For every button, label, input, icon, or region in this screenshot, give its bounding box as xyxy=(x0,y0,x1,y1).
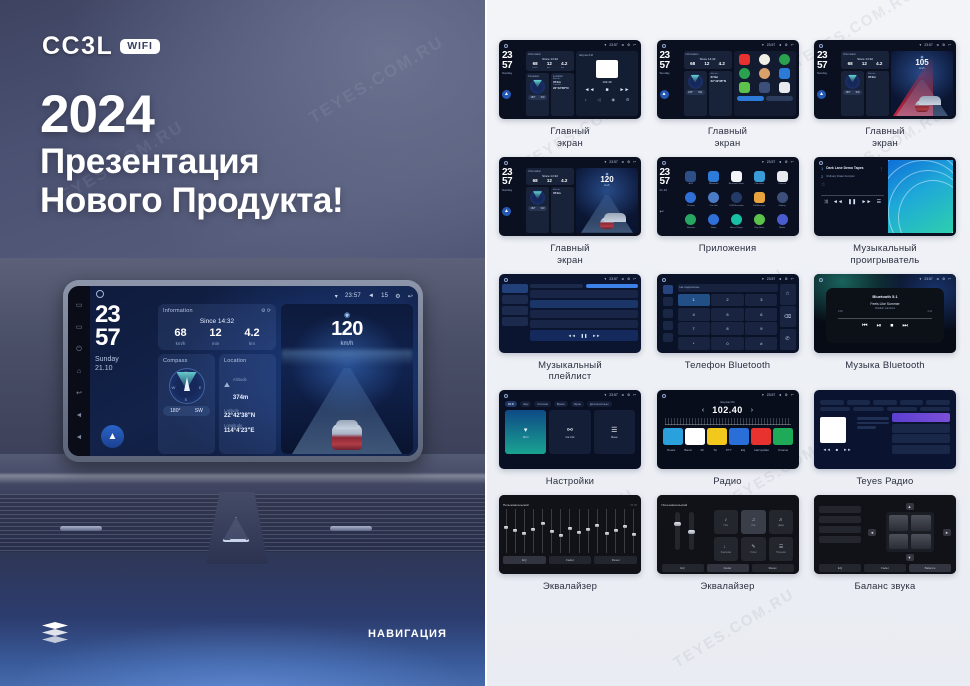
previous-icon: ⏮ xyxy=(862,323,867,330)
progress-bar[interactable] xyxy=(838,318,932,319)
dial-key[interactable]: 5 xyxy=(711,308,743,321)
footer-reset[interactable]: Reset xyxy=(594,556,637,564)
equalizer-bands[interactable] xyxy=(503,509,637,553)
compass-card[interactable]: 180°SW xyxy=(841,71,864,117)
dialpad-keys[interactable]: 1 2 3 4 5 6 7 8 9 * xyxy=(678,294,778,350)
footer-eq[interactable]: EQ xyxy=(819,564,861,572)
app-label: Chrome xyxy=(687,205,695,207)
status-bar: ▾23:57◄⚙↩ xyxy=(762,160,793,164)
sidebar-item-search[interactable] xyxy=(663,309,673,318)
screenshot-music-player[interactable]: ▾23:57◄⚙↩ 1Dark Lane Demo Tapes⋮ 2Ordina… xyxy=(814,157,956,236)
toolbar-chip[interactable] xyxy=(873,400,897,405)
fader-sliders[interactable] xyxy=(662,510,708,561)
gallery-item[interactable]: ▾23:57◄⚙↩ Bluetooth 5.1 Feels Like Summe… xyxy=(814,274,956,384)
balance-down-icon[interactable]: ▼ xyxy=(906,554,914,561)
list-item[interactable] xyxy=(530,290,638,298)
dialpad-main: Не подключен 1 2 3 4 5 6 7 8 xyxy=(678,277,796,350)
home-indicator-icon xyxy=(504,161,508,165)
navigation-button[interactable]: ▲ xyxy=(101,425,124,448)
previous-icon: ◄◄ xyxy=(823,447,831,452)
tab-advanced[interactable]: Дополнительно xyxy=(587,401,612,407)
key-volume-up-icon[interactable]: ◄ xyxy=(76,434,83,441)
stat-value: 12 xyxy=(862,62,867,67)
tab-time[interactable]: Время xyxy=(554,401,568,407)
preset-pop[interactable]: ♪Поп xyxy=(714,510,739,534)
gallery-item[interactable]: ▾23:57◄⚙↩ Не подключен xyxy=(657,274,799,384)
screenshot-equalizer-fader[interactable]: Пользовательский ♪Поп ♫Рок ♬Джаз ♩Класси… xyxy=(657,495,799,574)
gallery-item[interactable]: Пользовательский ♪Поп ♫Рок ♬Джаз ♩Класси… xyxy=(657,495,799,593)
setting-card-wifi[interactable]: ▾ Wi-Fi xyxy=(505,410,546,454)
information-card[interactable]: Information ⚙ ⟳ Since 14:32 68 km/h xyxy=(158,304,276,350)
preset-rear[interactable] xyxy=(819,526,861,533)
link-icon: ⚯ xyxy=(567,426,573,434)
wifi-icon: ▾ xyxy=(335,293,338,300)
key-mic-icon[interactable]: ▭ xyxy=(76,324,83,331)
backspace-icon[interactable]: ⌫ xyxy=(780,306,796,327)
gallery-item[interactable]: ▾23:57◄⚙↩ 23 57 Sunday ▲ Information xyxy=(814,40,956,150)
center-widgets: Information Since 14:32 68km/h 12min 4.2… xyxy=(526,51,574,116)
compass-direction: SW xyxy=(698,91,702,94)
information-settings-icon[interactable]: ⚙ ⟳ xyxy=(261,308,271,314)
phone-sidebar[interactable] xyxy=(660,277,676,350)
screenshot-bluetooth-phone[interactable]: ▾23:57◄⚙↩ Не подключен xyxy=(657,274,799,353)
location-card[interactable]: Altitude 374m 22°42'38"N xyxy=(709,71,732,117)
key-back-icon[interactable]: ↩ xyxy=(76,390,82,397)
navigation-button[interactable]: ▲ xyxy=(817,90,826,99)
equalizer-footer[interactable]: EQ Fader Reset xyxy=(662,564,794,572)
vent-slider-left[interactable] xyxy=(60,526,102,531)
clock-minute: 57 xyxy=(660,177,682,187)
information-card[interactable]: Information Since 14:32 68km/h 12min 4.2… xyxy=(526,51,574,71)
longitude-value: 114°4'23"E xyxy=(224,428,271,434)
slider-treble[interactable] xyxy=(689,512,694,550)
tab-sound[interactable]: Звук xyxy=(520,401,531,407)
toolbar-search[interactable]: Поиск xyxy=(667,448,675,452)
center-widgets: Information Since 14:32 68 12 4.2 xyxy=(684,51,732,116)
radio-frequency: 102.40 xyxy=(712,405,743,415)
navigation-button[interactable]: ▲ xyxy=(502,207,511,216)
dial-key[interactable]: 4 xyxy=(678,308,710,321)
back-icon: ↩ xyxy=(791,43,794,47)
gear-icon[interactable]: ⚙ xyxy=(395,293,401,300)
back-icon[interactable]: ↩ xyxy=(408,293,413,300)
status-time: 23:57 xyxy=(609,160,618,164)
volume-icon: ◄ xyxy=(778,393,781,397)
frequency-scale[interactable] xyxy=(665,418,791,425)
app-icon-play xyxy=(739,82,750,93)
preset-jazz[interactable]: ♬Джаз xyxy=(769,510,794,534)
dial-key[interactable]: 9 xyxy=(745,322,777,335)
teyes-body: ◄◄■►► xyxy=(820,413,950,459)
compass-needle xyxy=(184,377,190,391)
key-power-icon[interactable]: ⏻ xyxy=(76,346,82,353)
settings-tabs[interactable]: Wi-Fi Звук Система Время Экран Дополните… xyxy=(505,401,635,407)
teyes-toolbar[interactable] xyxy=(820,400,950,405)
equalizer-header: Пользовательский ▭ ▭ xyxy=(503,503,637,507)
back-icon: ↩ xyxy=(948,43,951,47)
previous-icon: ◄◄ xyxy=(568,333,576,338)
prev-station-icon[interactable]: ‹ xyxy=(702,407,704,414)
dial-key[interactable]: 3 xyxy=(745,294,777,307)
location-card[interactable]: Altitude 374m xyxy=(551,187,574,233)
app-label: Car Link xyxy=(710,205,718,207)
key-volume-down-icon[interactable]: ◄ xyxy=(76,412,83,419)
compass-direction: SW xyxy=(541,207,545,210)
screenshot-teyes-radio[interactable]: ◄◄■►► xyxy=(814,390,956,469)
drive-widget[interactable]: ◉ 105 km/h xyxy=(891,51,953,116)
gallery-item[interactable]: ▾23:57◄⚙↩ Шоулан FM ‹ 102.40 › xyxy=(657,390,799,488)
preset-stations[interactable] xyxy=(663,428,793,445)
drive-widget[interactable]: ◉ 120 km/h xyxy=(576,168,638,233)
volume-icon: ◄ xyxy=(778,277,781,281)
dial-key[interactable]: 6 xyxy=(745,308,777,321)
preset-rock[interactable]: ♫Рок xyxy=(741,510,766,534)
clock-minute: 57 xyxy=(817,61,839,71)
playback-controls[interactable]: ◄◄■►► xyxy=(820,447,854,452)
screenshot-bluetooth-music[interactable]: ▾23:57◄⚙↩ Bluetooth 5.1 Feels Like Summe… xyxy=(814,274,956,353)
preset-name: Пользовательский xyxy=(503,503,529,507)
balance-right-icon[interactable]: ► xyxy=(943,529,951,536)
gallery-item[interactable]: ▾23:57◄⚙↩ 23 57 Sunday ▲ Information xyxy=(657,40,799,150)
eq-band xyxy=(550,509,554,553)
list-item[interactable] xyxy=(892,413,950,422)
phone-number-field[interactable]: Не подключен xyxy=(678,284,778,292)
more-icon[interactable]: ⋮ xyxy=(880,166,884,171)
logo-wifi-badge: WIFI xyxy=(120,39,159,55)
stat-value: 68 xyxy=(533,62,538,67)
list-item[interactable] xyxy=(530,300,638,308)
apps-layout: 23 57 21.10 ↩ AUX Bluetooth Bluetooth Mu… xyxy=(660,160,796,233)
station-preset[interactable] xyxy=(729,428,749,445)
information-card[interactable]: Information Since 14:32 68 12 4.2 xyxy=(841,51,889,69)
album-art xyxy=(596,60,618,78)
screenshot-radio[interactable]: ▾23:57◄⚙↩ Шоулан FM ‹ 102.40 › xyxy=(657,390,799,469)
footer-fader[interactable]: Fader xyxy=(864,564,906,572)
home-indicator-icon[interactable] xyxy=(96,290,104,298)
status-bar: ▾ 23:57 ◄ 15 ⚙ ↩ xyxy=(95,290,413,302)
footer-reset[interactable]: Reset xyxy=(752,564,794,572)
station-preset[interactable] xyxy=(685,428,705,445)
eq-band xyxy=(605,509,609,553)
app-icon-chrome xyxy=(685,192,696,203)
slider-bass[interactable] xyxy=(675,512,680,550)
back-icon: ↩ xyxy=(791,393,794,397)
playback-controls[interactable]: ⏮⏯⏹⏭ xyxy=(832,323,938,330)
gallery-item[interactable]: ▲ ▼ ◄ ► xyxy=(814,495,956,593)
toolbar-chip[interactable] xyxy=(926,400,950,405)
speed-unit: km/h xyxy=(576,184,638,187)
gallery-item[interactable]: ▾23:57◄⚙↩ 23 57 21.10 ↩ AUX Bluetooth Bl… xyxy=(657,157,799,267)
navigation-button[interactable]: ▲ xyxy=(502,90,511,99)
fader-layout: Пользовательский ♪Поп ♫Рок ♬Джаз ♩Класси… xyxy=(657,495,799,574)
tab-favorites[interactable] xyxy=(586,284,639,288)
preset-selector[interactable]: ▭ ▭ xyxy=(630,503,637,507)
compass-card[interactable]: Compass 180°SW xyxy=(526,73,549,117)
dialpad-layout: Не подключен 1 2 3 4 5 6 7 8 xyxy=(660,277,796,350)
clock-widget: 23 57 Sunday 21.10 ▲ xyxy=(95,304,153,454)
home-widgets: 23 57 Sunday 21.10 ▲ Information xyxy=(95,304,413,454)
next-icon: ►► xyxy=(592,333,600,338)
screenshot-equalizer[interactable]: Пользовательский ▭ ▭ xyxy=(499,495,641,574)
preset-name: Пользовательский xyxy=(662,503,794,507)
longitude-row: Longitude 114°4'23"E xyxy=(224,423,271,434)
list-item[interactable] xyxy=(530,320,638,328)
dialpad-actions[interactable]: ☆ ⌫ ✆ xyxy=(780,284,796,350)
tab-all[interactable] xyxy=(530,284,583,288)
gallery-item[interactable]: ▾23:57◄⚙↩ 23 57 Sunday ▲ Information xyxy=(499,40,641,150)
key-home-icon[interactable]: ⌂ xyxy=(77,368,81,375)
status-bar: ▾23:57◄⚙↩ xyxy=(920,43,951,47)
gallery-item[interactable]: ▾23:57◄⚙↩ Wi-Fi Звук Система Время Экран… xyxy=(499,390,641,488)
media-freq: 102.40 xyxy=(579,80,635,84)
media-widget[interactable]: Шоулан FM 102.40 ◄◄■►► ♪◁◉⚙ xyxy=(576,51,638,116)
compass-card[interactable]: 180°SW xyxy=(684,71,707,117)
screenshot-playlist[interactable]: ▾23:57◄⚙↩ xyxy=(499,274,641,353)
playback-controls[interactable]: ⤨◄◄❚❚►►☰ xyxy=(821,199,884,205)
dial-key[interactable]: * xyxy=(678,337,710,350)
home-layout: 23 57 Sunday ▲ Information Since 14:32 6… xyxy=(502,160,638,233)
gallery-item[interactable]: ▾23:57◄⚙↩ 23 57 Sunday ▲ Information xyxy=(499,157,641,267)
key-menu-icon[interactable]: ▭ xyxy=(76,302,83,309)
mini-player[interactable]: ◄◄❚❚►► xyxy=(530,330,638,341)
app-item: Camera xyxy=(773,171,792,190)
gallery-item[interactable]: ▾23:57◄⚙↩ xyxy=(499,274,641,384)
list-item[interactable] xyxy=(892,445,950,454)
app-icon-gallery xyxy=(777,192,788,203)
location-card[interactable]: Altitude 374m xyxy=(866,71,889,117)
gallery-item[interactable]: ◄◄■►► xyxy=(814,390,956,488)
toolbar-af[interactable]: AF xyxy=(700,448,704,452)
footer-eq[interactable]: EQ xyxy=(662,564,704,572)
screenshot-home-speed[interactable]: ▾23:57◄⚙↩ 23 57 Sunday ▲ Information xyxy=(499,157,641,236)
latitude-value: 22°42'38"N xyxy=(711,79,730,83)
location-card[interactable]: Location ⛰ Altitude 374m xyxy=(219,354,276,454)
drive-widget[interactable]: ◉ 120 km/h xyxy=(281,304,413,454)
preset-driver[interactable] xyxy=(819,506,861,513)
location-card[interactable]: Location Altitude 374m Latitude 22°42'38… xyxy=(551,73,574,117)
toolbar-list[interactable]: Список xyxy=(778,448,788,452)
balance-pad[interactable]: ▲ ▼ ◄ ► xyxy=(868,503,951,561)
wifi-icon: ▾ xyxy=(920,277,922,281)
toolbar-band[interactable]: Band xyxy=(684,448,691,452)
setting-card-carlink[interactable]: ⚯ Car Link xyxy=(549,410,590,454)
media-controls[interactable]: ◄◄■►► xyxy=(579,87,635,93)
app-label: Calculator xyxy=(754,183,764,185)
equalizer-footer[interactable]: EQ Fader Balance xyxy=(819,564,951,572)
screenshot-settings[interactable]: ▾23:57◄⚙↩ Wi-Fi Звук Система Время Экран… xyxy=(499,390,641,469)
radio-toolbar[interactable]: Поиск Band AF TA PTY EQ Настройки Список xyxy=(663,448,793,452)
stat-value: 12 xyxy=(547,62,552,67)
next-station-icon[interactable]: › xyxy=(751,407,753,414)
visualizer xyxy=(888,160,953,233)
station-preset[interactable] xyxy=(773,428,793,445)
sidebar-item-artists[interactable] xyxy=(502,306,528,315)
time-total: 4:41 xyxy=(927,310,932,313)
filter-chip[interactable] xyxy=(920,407,950,412)
eq-band xyxy=(623,509,627,553)
stat-value: 68 xyxy=(848,62,853,67)
toolbar-chip[interactable] xyxy=(820,400,844,405)
app-shortcuts-widget[interactable] xyxy=(734,51,796,116)
list-item[interactable] xyxy=(892,434,950,443)
gallery-item-label: Главныйэкран xyxy=(550,126,589,150)
balance-layout: ▲ ▼ ◄ ► xyxy=(814,495,956,574)
back-icon: ↩ xyxy=(633,277,636,281)
footer-eq[interactable]: EQ xyxy=(503,556,546,564)
toolbar-ta[interactable]: TA xyxy=(713,448,717,452)
information-card[interactable]: Information Since 14:32 68 12 4.2 xyxy=(526,168,574,186)
filter-chip[interactable] xyxy=(820,407,850,412)
preset-grid[interactable]: ♪Поп ♫Рок ♬Джаз ♩Классика ✎Голос ☰Пользо… xyxy=(714,510,794,561)
track-info: 1Dark Lane Demo Tapes⋮ 2Ordinary Drake S… xyxy=(817,160,888,233)
back-icon: ↩ xyxy=(633,393,636,397)
list-item[interactable] xyxy=(892,424,950,433)
toolbar-chip[interactable] xyxy=(900,400,924,405)
app-icon-radio xyxy=(777,214,788,225)
track-list[interactable]: ◄◄❚❚►► xyxy=(530,277,638,350)
app-item: Gallery xyxy=(773,192,792,211)
dial-key[interactable]: 2 xyxy=(711,294,743,307)
station-preset[interactable] xyxy=(663,428,683,445)
balance-left-icon[interactable]: ◄ xyxy=(868,529,876,536)
sidebar-item-history[interactable] xyxy=(663,321,673,330)
navigation-button[interactable]: ▲ xyxy=(660,90,669,99)
preset-all[interactable] xyxy=(819,536,861,543)
toolbar-eq[interactable]: EQ xyxy=(741,448,745,452)
sidebar-item-contacts[interactable] xyxy=(663,297,673,306)
compass-card[interactable]: 180°SW xyxy=(526,187,549,233)
setting-card-menu[interactable]: ☰ Меню xyxy=(594,410,635,454)
sidebar-item-folders[interactable] xyxy=(502,317,528,326)
screenshot-apps[interactable]: ▾23:57◄⚙↩ 23 57 21.10 ↩ AUX Bluetooth Bl… xyxy=(657,157,799,236)
dial-key[interactable]: 7 xyxy=(678,322,710,335)
favorite-icon[interactable]: ☆ xyxy=(821,182,884,188)
footer-fader[interactable]: Fader xyxy=(707,564,749,572)
gallery-row: ▾23:57◄⚙↩ Wi-Fi Звук Система Время Экран… xyxy=(499,390,956,488)
preset-custom[interactable]: ☰Пользов. xyxy=(769,537,794,561)
sidebar-item-dialpad[interactable] xyxy=(663,285,673,294)
preset-classic[interactable]: ♩Классика xyxy=(714,537,739,561)
hero-panel: TEYES.COM.RU TEYES.COM.RU TEYES.COM.RU T… xyxy=(0,0,485,686)
balance-body: ▲ ▼ ◄ ► xyxy=(819,503,951,561)
station-list[interactable] xyxy=(892,413,950,459)
tab-system[interactable]: Система xyxy=(534,401,550,407)
playlist-sidebar[interactable] xyxy=(502,277,528,350)
sidebar-item-settings[interactable] xyxy=(663,333,673,342)
toolbar-settings[interactable]: Настройки xyxy=(754,448,769,452)
dial-key[interactable]: 8 xyxy=(711,322,743,335)
filter-chip[interactable] xyxy=(887,407,917,412)
app-grid[interactable]: AUX Bluetooth Bluetooth Music Calculator… xyxy=(682,168,796,233)
altitude-icon: ⛰ xyxy=(224,382,230,390)
balance-presets[interactable] xyxy=(819,503,861,561)
call-icon[interactable]: ✆ xyxy=(780,329,796,350)
filter-chip[interactable] xyxy=(853,407,883,412)
progress-bar[interactable] xyxy=(821,195,884,197)
gallery-item-label: Главныйэкран xyxy=(550,243,589,267)
screenshot-balance[interactable]: ▲ ▼ ◄ ► xyxy=(814,495,956,574)
back-icon[interactable]: ↩ xyxy=(660,209,682,215)
now-playing-card: Bluetooth 5.1 Feels Like Summer Childish… xyxy=(826,288,944,343)
compass-west: W xyxy=(172,385,176,390)
gallery-item-label: Музыкальныйпроигрыватель xyxy=(851,243,920,267)
information-title: Information xyxy=(163,308,193,314)
track-subtitle: Ordinary Drake Scorpion xyxy=(826,175,855,178)
media-title: Шоулан FM xyxy=(579,54,635,57)
station-preset[interactable] xyxy=(751,428,771,445)
sidebar-item-albums[interactable] xyxy=(502,295,528,304)
back-icon: ↩ xyxy=(791,160,794,164)
gallery-item[interactable]: ▾23:57◄⚙↩ 1Dark Lane Demo Tapes⋮ 2Ordina… xyxy=(814,157,956,267)
app-icon-carlink xyxy=(708,192,719,203)
seat-rear-left xyxy=(889,534,909,550)
volume-icon: ◄ xyxy=(936,277,939,281)
equalizer-footer[interactable]: EQ Fader Reset xyxy=(503,556,637,564)
preset-voice[interactable]: ✎Голос xyxy=(741,537,766,561)
status-bar: ▾23:57◄⚙↩ xyxy=(762,393,793,397)
media-source-row[interactable]: ♪◁◉⚙ xyxy=(579,97,635,102)
bluetooth-version: Bluetooth 5.1 xyxy=(832,294,938,299)
preset-passenger[interactable] xyxy=(819,516,861,523)
home-indicator-icon xyxy=(504,278,508,282)
teyes-filters[interactable] xyxy=(820,407,950,412)
gallery-item-label: Музыкальныйплейлист xyxy=(538,360,602,384)
tab-display[interactable]: Экран xyxy=(571,401,584,407)
status-bar: ▾23:57◄⚙↩ xyxy=(920,277,951,281)
screenshot-home-apps[interactable]: ▾23:57◄⚙↩ 23 57 Sunday ▲ Information xyxy=(657,40,799,119)
air-vent-left xyxy=(0,494,240,552)
footer-fader[interactable]: Fader xyxy=(549,556,592,564)
toolbar-pty[interactable]: PTY xyxy=(726,448,732,452)
screenshot-home-drive[interactable]: ▾23:57◄⚙↩ 23 57 Sunday ▲ Information xyxy=(814,40,956,119)
volume-icon: ◄ xyxy=(621,277,624,281)
station-preset[interactable] xyxy=(707,428,727,445)
altitude-value: 374m xyxy=(553,191,572,195)
air-vent-right xyxy=(250,494,485,552)
balance-up-icon[interactable]: ▲ xyxy=(906,503,914,510)
settings-cards[interactable]: ▾ Wi-Fi ⚯ Car Link ☰ Меню xyxy=(505,410,635,454)
status-time: 23:57 xyxy=(767,160,776,164)
home-indicator-icon xyxy=(819,44,823,48)
screenshot-home-media[interactable]: ▾23:57◄⚙↩ 23 57 Sunday ▲ Information xyxy=(499,40,641,119)
information-card[interactable]: Information Since 14:32 68 12 4.2 xyxy=(684,51,732,69)
stat-value: 12 xyxy=(704,62,709,67)
clock-widget: 23 57 Sunday ▲ xyxy=(817,51,839,116)
app-label: Bluetooth xyxy=(709,183,718,185)
stat-value: 12 xyxy=(547,179,552,184)
gallery-item-label: Главныйэкран xyxy=(865,126,904,150)
volume-icon: ◄ xyxy=(936,43,939,47)
head-unit-bezel: ▭ ▭ ⏻ ⌂ ↩ ◄ ◄ ▾ 23:57 ◄ xyxy=(63,280,423,462)
gallery-item[interactable]: Пользовательский ▭ ▭ xyxy=(499,495,641,593)
favorite-icon[interactable]: ☆ xyxy=(780,284,796,305)
app-item: Car Link xyxy=(704,192,723,211)
list-item[interactable] xyxy=(530,310,638,318)
dial-key[interactable]: 1 xyxy=(678,294,710,307)
dial-key[interactable]: # xyxy=(745,337,777,350)
tab-wifi[interactable]: Wi-Fi xyxy=(505,401,517,407)
dial-key[interactable]: 0 xyxy=(711,337,743,350)
sidebar-item-tracks[interactable] xyxy=(502,284,528,293)
app-icon-camera xyxy=(777,171,788,182)
footer-balance[interactable]: Balance xyxy=(909,564,951,572)
app-grid[interactable] xyxy=(734,51,796,96)
compass-card[interactable]: Compass N E S W xyxy=(158,354,215,454)
compass-degrees: 180° xyxy=(170,408,180,414)
toolbar-chip[interactable] xyxy=(847,400,871,405)
vent-slider-right[interactable] xyxy=(330,526,372,531)
next-icon: ⏭ xyxy=(902,323,907,330)
